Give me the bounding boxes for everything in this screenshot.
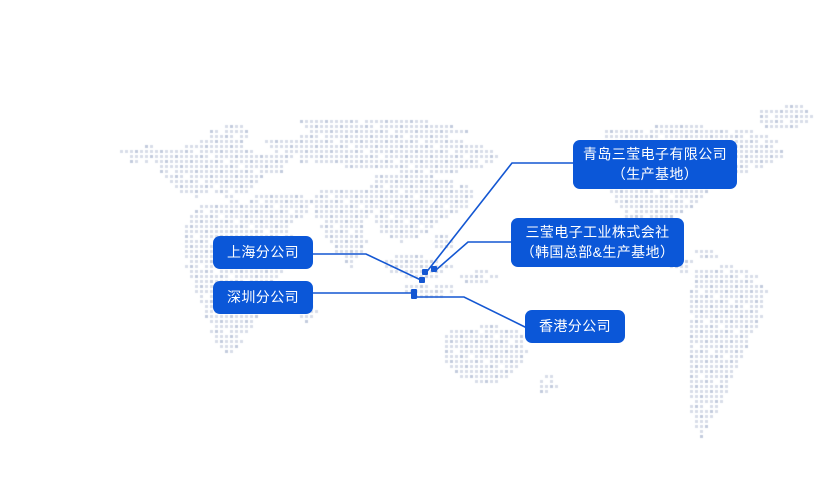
- label-shenzhen[interactable]: 深圳分公司: [213, 281, 313, 314]
- label-hongkong[interactable]: 香港分公司: [525, 310, 625, 343]
- label-shanghai[interactable]: 上海分公司: [213, 236, 313, 269]
- map-marker-korea[interactable]: [431, 266, 437, 272]
- dotted-world-map-canvas: [0, 0, 824, 480]
- world-map-background: [0, 0, 824, 480]
- label-qingdao-line-2: （生产基地）: [612, 165, 698, 184]
- map-marker-qingdao[interactable]: [422, 269, 428, 275]
- map-infographic: 青岛三莹电子有限公司（生产基地）三莹电子工业株式会社（韩国总部&生产基地）上海分…: [0, 0, 824, 480]
- label-shanghai-line-1: 上海分公司: [227, 243, 299, 262]
- map-marker-shanghai[interactable]: [419, 277, 425, 283]
- label-korea-hq-line-1: 三莹电子工业株式会社: [526, 223, 670, 242]
- label-qingdao[interactable]: 青岛三莹电子有限公司（生产基地）: [573, 140, 737, 189]
- label-hongkong-line-1: 香港分公司: [539, 317, 611, 336]
- label-qingdao-line-1: 青岛三莹电子有限公司: [583, 145, 727, 164]
- label-korea-hq-line-2: （韩国总部&生产基地）: [521, 243, 675, 262]
- label-shenzhen-line-1: 深圳分公司: [227, 288, 299, 307]
- label-korea-hq[interactable]: 三莹电子工业株式会社（韩国总部&生产基地）: [511, 218, 684, 267]
- map-marker-hongkong[interactable]: [411, 293, 417, 299]
